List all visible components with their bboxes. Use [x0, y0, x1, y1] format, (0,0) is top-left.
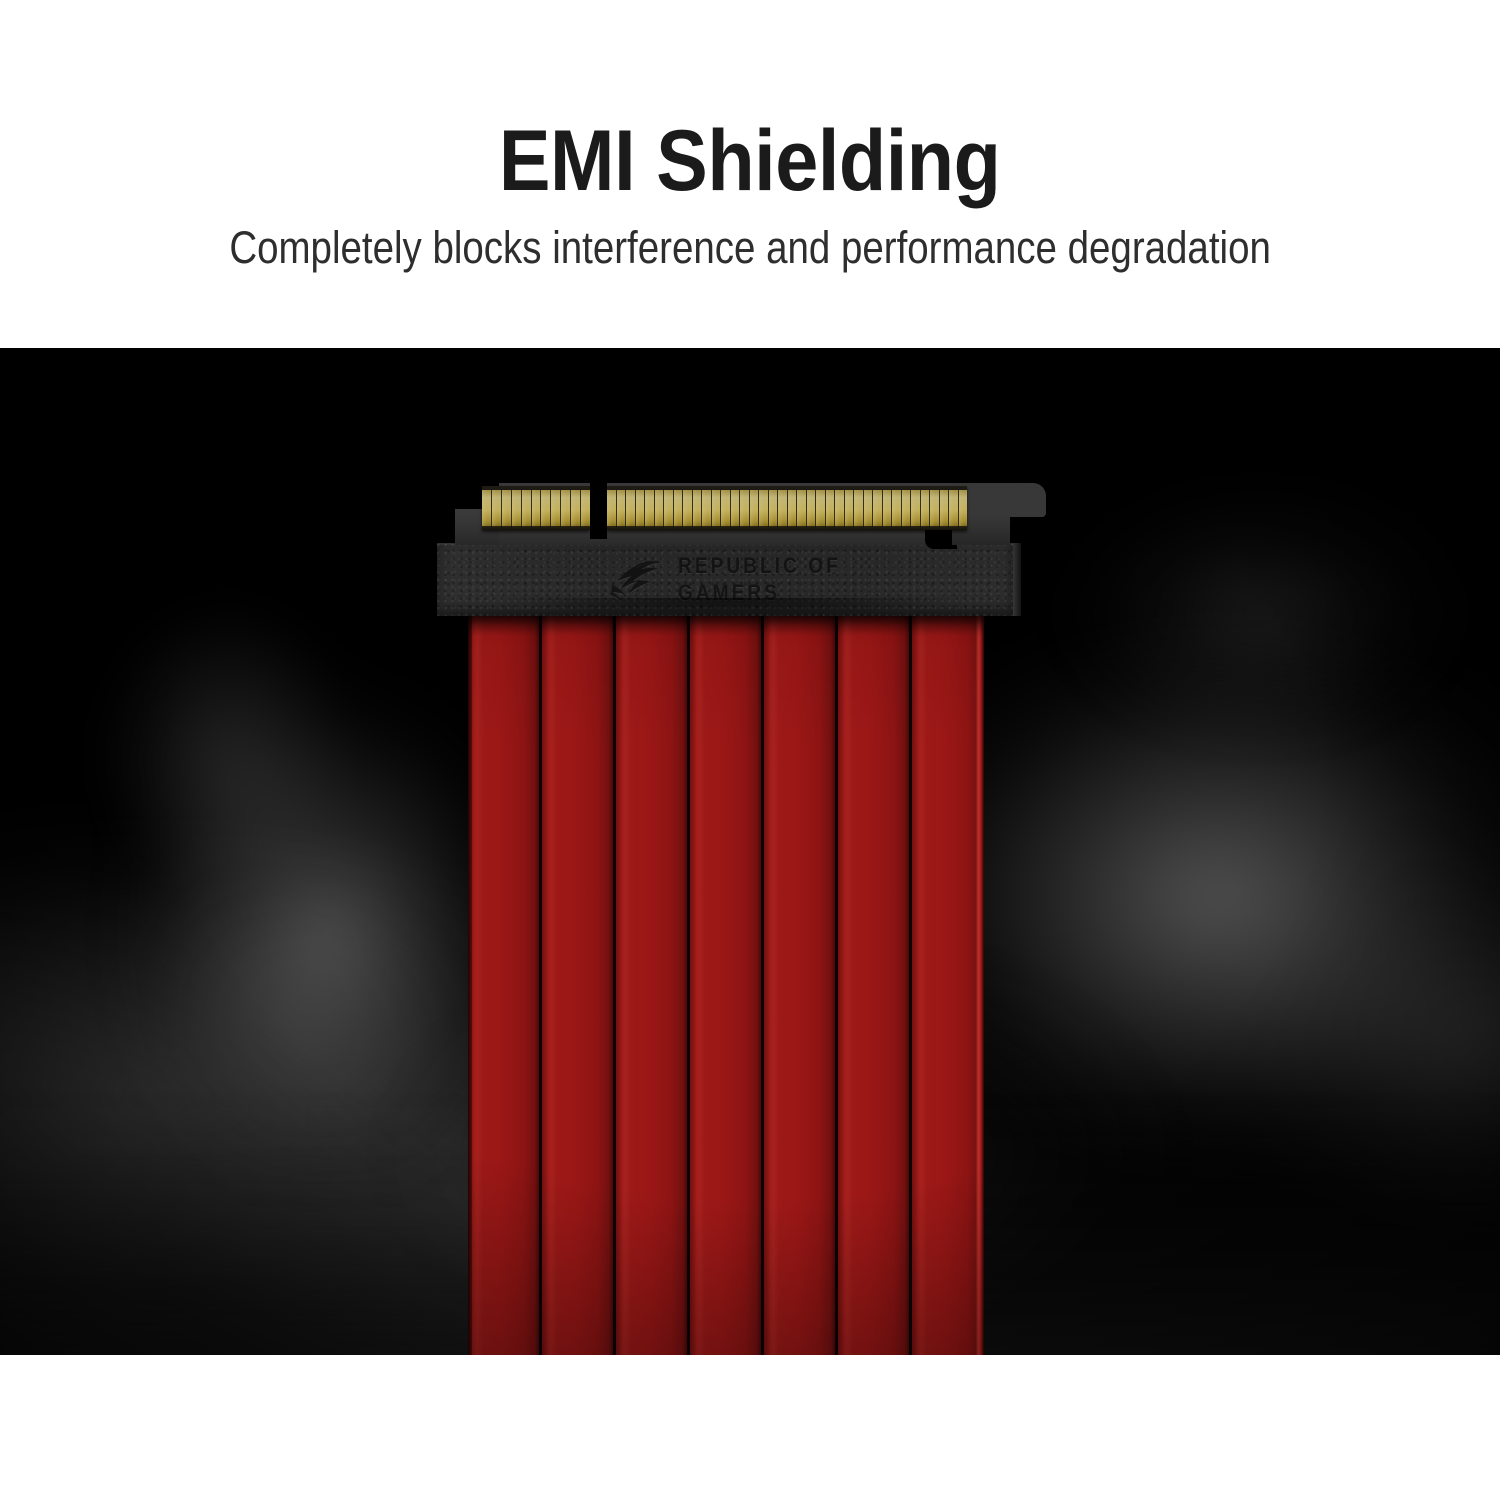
contact-pin [788, 486, 798, 530]
ribbon-strand [838, 610, 912, 1355]
pin-bank-long [607, 486, 967, 530]
contact-pin [854, 486, 864, 530]
contact-pin [759, 486, 769, 530]
contact-pin [655, 486, 665, 530]
contact-pin [959, 486, 968, 530]
contact-pin [664, 486, 674, 530]
contact-pin [921, 486, 931, 530]
contact-pin [571, 486, 581, 530]
ribbon-cable [468, 610, 983, 1355]
ribbon-strand [468, 610, 542, 1355]
riser-cable-product: REPUBLIC OF GAMERS [0, 348, 1500, 1355]
ribbon-left-edge [468, 610, 472, 1355]
contact-pin [626, 486, 636, 530]
rog-wordmark: REPUBLIC OF GAMERS [678, 557, 841, 603]
contact-pin [492, 486, 502, 530]
ribbon-strand [912, 610, 983, 1355]
contact-pin [645, 486, 655, 530]
contact-pin [541, 486, 551, 530]
contact-pin [826, 486, 836, 530]
contact-pin [683, 486, 693, 530]
contact-pin [873, 486, 883, 530]
ribbon-strand [616, 610, 690, 1355]
contact-pin [816, 486, 826, 530]
contact-pin [551, 486, 561, 530]
contact-pin [769, 486, 779, 530]
contact-pin [778, 486, 788, 530]
rog-wordmark-line-1: REPUBLIC OF [678, 555, 841, 577]
contact-pin [636, 486, 646, 530]
housing-right-face [1013, 543, 1021, 616]
contact-pin [702, 486, 712, 530]
contact-pin [892, 486, 902, 530]
banner-header: EMI Shielding Completely blocks interfer… [0, 0, 1500, 348]
page-title: EMI Shielding [499, 118, 1001, 206]
contact-pin [721, 486, 731, 530]
contact-pin [581, 486, 590, 530]
contact-pin [835, 486, 845, 530]
product-photo-stage: REPUBLIC OF GAMERS [0, 348, 1500, 1355]
contact-pin [930, 486, 940, 530]
contact-pin [949, 486, 959, 530]
rog-wordmark-line-2: GAMERS [678, 582, 841, 604]
contact-pin [522, 486, 532, 530]
page-subtitle: Completely blocks interference and perfo… [229, 224, 1271, 271]
ribbon-strand [690, 610, 764, 1355]
contact-pin [712, 486, 722, 530]
contact-pin [902, 486, 912, 530]
contact-pin [911, 486, 921, 530]
gold-contact-fingers-icon [455, 483, 1031, 545]
contact-pin [532, 486, 542, 530]
contact-pin [940, 486, 950, 530]
contact-pin [845, 486, 855, 530]
contact-pin [740, 486, 750, 530]
contact-pin [731, 486, 741, 530]
ribbon-strand [542, 610, 616, 1355]
connector-key-notch [590, 483, 607, 539]
ribbon-strand [764, 610, 838, 1355]
contact-pin [883, 486, 893, 530]
contact-pin [502, 486, 512, 530]
contact-pin [617, 486, 627, 530]
rog-eye-icon [609, 558, 665, 602]
contact-pin [864, 486, 874, 530]
contact-pin [750, 486, 760, 530]
ribbon-right-edge [975, 610, 984, 1355]
contact-pin [674, 486, 684, 530]
product-feature-banner: EMI Shielding Completely blocks interfer… [0, 0, 1500, 1500]
contact-pin [807, 486, 817, 530]
contact-pin [607, 486, 617, 530]
pin-bank-short [482, 486, 590, 530]
contact-pin [482, 486, 492, 530]
contact-pin [561, 486, 571, 530]
contact-pin [797, 486, 807, 530]
contact-pin [693, 486, 703, 530]
banner-footer [0, 1355, 1500, 1500]
rog-brand-mark: REPUBLIC OF GAMERS [609, 554, 899, 606]
contact-pin [512, 486, 522, 530]
